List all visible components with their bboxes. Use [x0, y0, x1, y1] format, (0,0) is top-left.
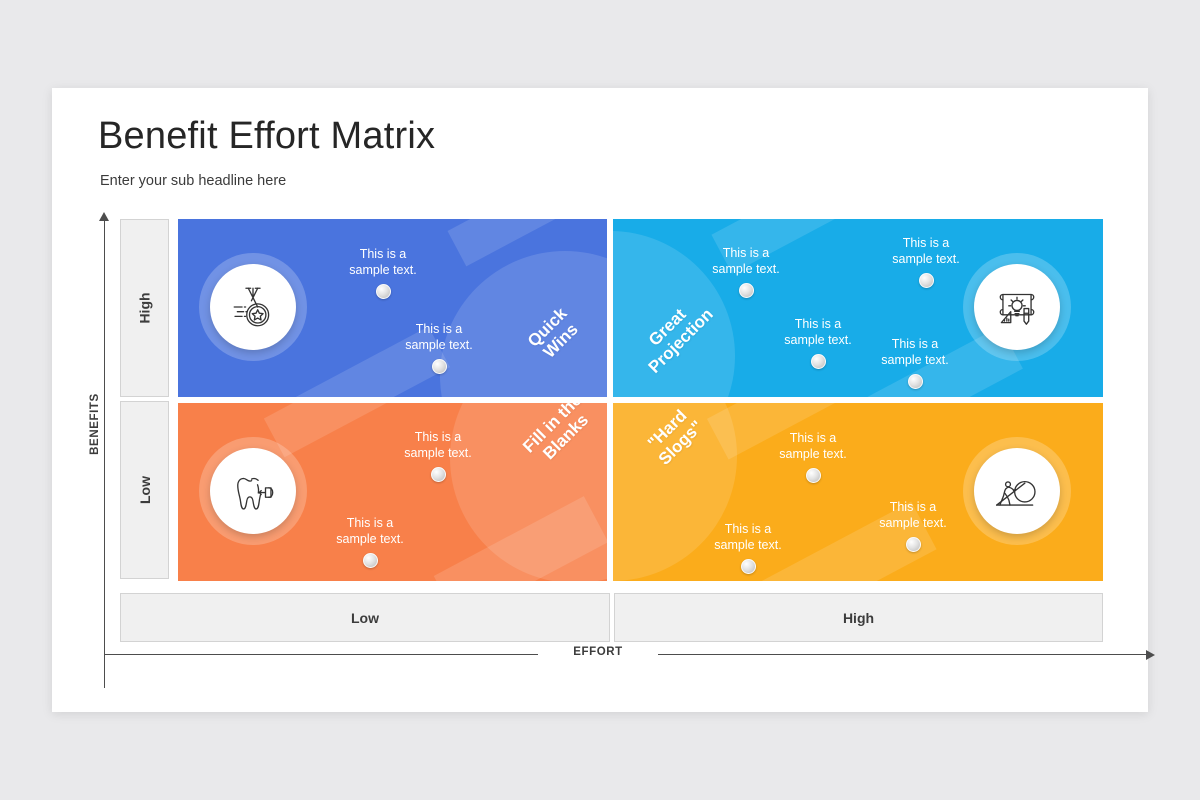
effort-category-low[interactable]: Low [120, 593, 610, 642]
callout: This is a sample text. [693, 507, 803, 581]
quadrant-quick-wins[interactable]: This is a sample text. This is a sample … [178, 219, 607, 397]
benefits-axis-arrow-icon [99, 212, 109, 221]
effort-category-high[interactable]: High [614, 593, 1103, 642]
quadrant-icon-bubble [963, 437, 1071, 545]
page-subtitle: Enter your sub headline here [100, 173, 286, 189]
callout-dot-icon [806, 468, 821, 483]
quadrant-icon-bubble [199, 253, 307, 361]
callout-dot-icon [906, 537, 921, 552]
quadrant-label: "Hard Slogs" [622, 403, 727, 488]
benefits-category-low[interactable]: Low [120, 401, 169, 579]
quadrant-great-projection[interactable]: This is a sample text. This is a sample … [613, 219, 1103, 397]
callout-text: This is a sample text. [712, 246, 779, 275]
medal-star-icon [228, 282, 278, 332]
callout-dot-icon [741, 559, 756, 574]
effort-axis-label: EFFORT [538, 646, 658, 658]
callout: This is a sample text. [871, 221, 981, 303]
callout-dot-icon [811, 354, 826, 369]
benefits-axis-line [104, 218, 105, 688]
callout-text: This is a sample text. [879, 500, 946, 529]
quadrant-label: Quick Wins [502, 282, 607, 387]
callout-text: This is a sample text. [405, 322, 472, 351]
benefits-category-high[interactable]: High [120, 219, 169, 397]
callout-text: This is a sample text. [349, 247, 416, 276]
callout: This is a sample text. [860, 322, 970, 397]
callout-text: This is a sample text. [714, 522, 781, 551]
callout: This is a sample text. [383, 415, 493, 497]
callout-dot-icon [739, 283, 754, 298]
callout-text: This is a sample text. [892, 236, 959, 265]
benefits-category-high-label: High [136, 292, 152, 323]
callout-text: This is a sample text. [881, 337, 948, 366]
callout: This is a sample text. [384, 307, 494, 389]
callout-text: This is a sample text. [336, 516, 403, 545]
quadrant-hard-slogs[interactable]: This is a sample text. This is a sample … [613, 403, 1103, 581]
quadrant-label: Great Projection [622, 282, 727, 387]
quadrant-icon-bubble [199, 437, 307, 545]
callout-dot-icon [376, 284, 391, 299]
pushing-boulder-icon [992, 466, 1042, 516]
callout-text: This is a sample text. [779, 431, 846, 460]
effort-category-low-label: Low [351, 610, 379, 626]
callout-dot-icon [919, 273, 934, 288]
callout: This is a sample text. [758, 416, 868, 498]
callout: This is a sample text. [763, 302, 873, 384]
page-title: Benefit Effort Matrix [98, 115, 435, 158]
callout: This is a sample text. [328, 232, 438, 314]
benefits-category-low-label: Low [137, 476, 153, 504]
quadrant-label: Fill in the Blanks [503, 403, 607, 486]
callout-dot-icon [908, 374, 923, 389]
callout-dot-icon [363, 553, 378, 568]
effort-category-high-label: High [843, 610, 874, 626]
decor-bar [434, 496, 607, 581]
tooth-filling-icon [228, 466, 278, 516]
effort-axis-arrow-icon [1146, 650, 1155, 660]
blueprint-lightbulb-icon [992, 282, 1042, 332]
slide-canvas: Benefit Effort Matrix Enter your sub hea… [52, 88, 1148, 712]
quadrant-fill-in-the-blanks[interactable]: This is a sample text. This is a sample … [178, 403, 607, 581]
callout: This is a sample text. [315, 501, 425, 581]
benefits-axis-label: BENEFITS [89, 364, 101, 484]
callout-text: This is a sample text. [404, 430, 471, 459]
callout-dot-icon [432, 359, 447, 374]
decor-bar [448, 219, 571, 266]
callout-text: This is a sample text. [784, 317, 851, 346]
callout: This is a sample text. [858, 485, 968, 567]
callout-dot-icon [431, 467, 446, 482]
